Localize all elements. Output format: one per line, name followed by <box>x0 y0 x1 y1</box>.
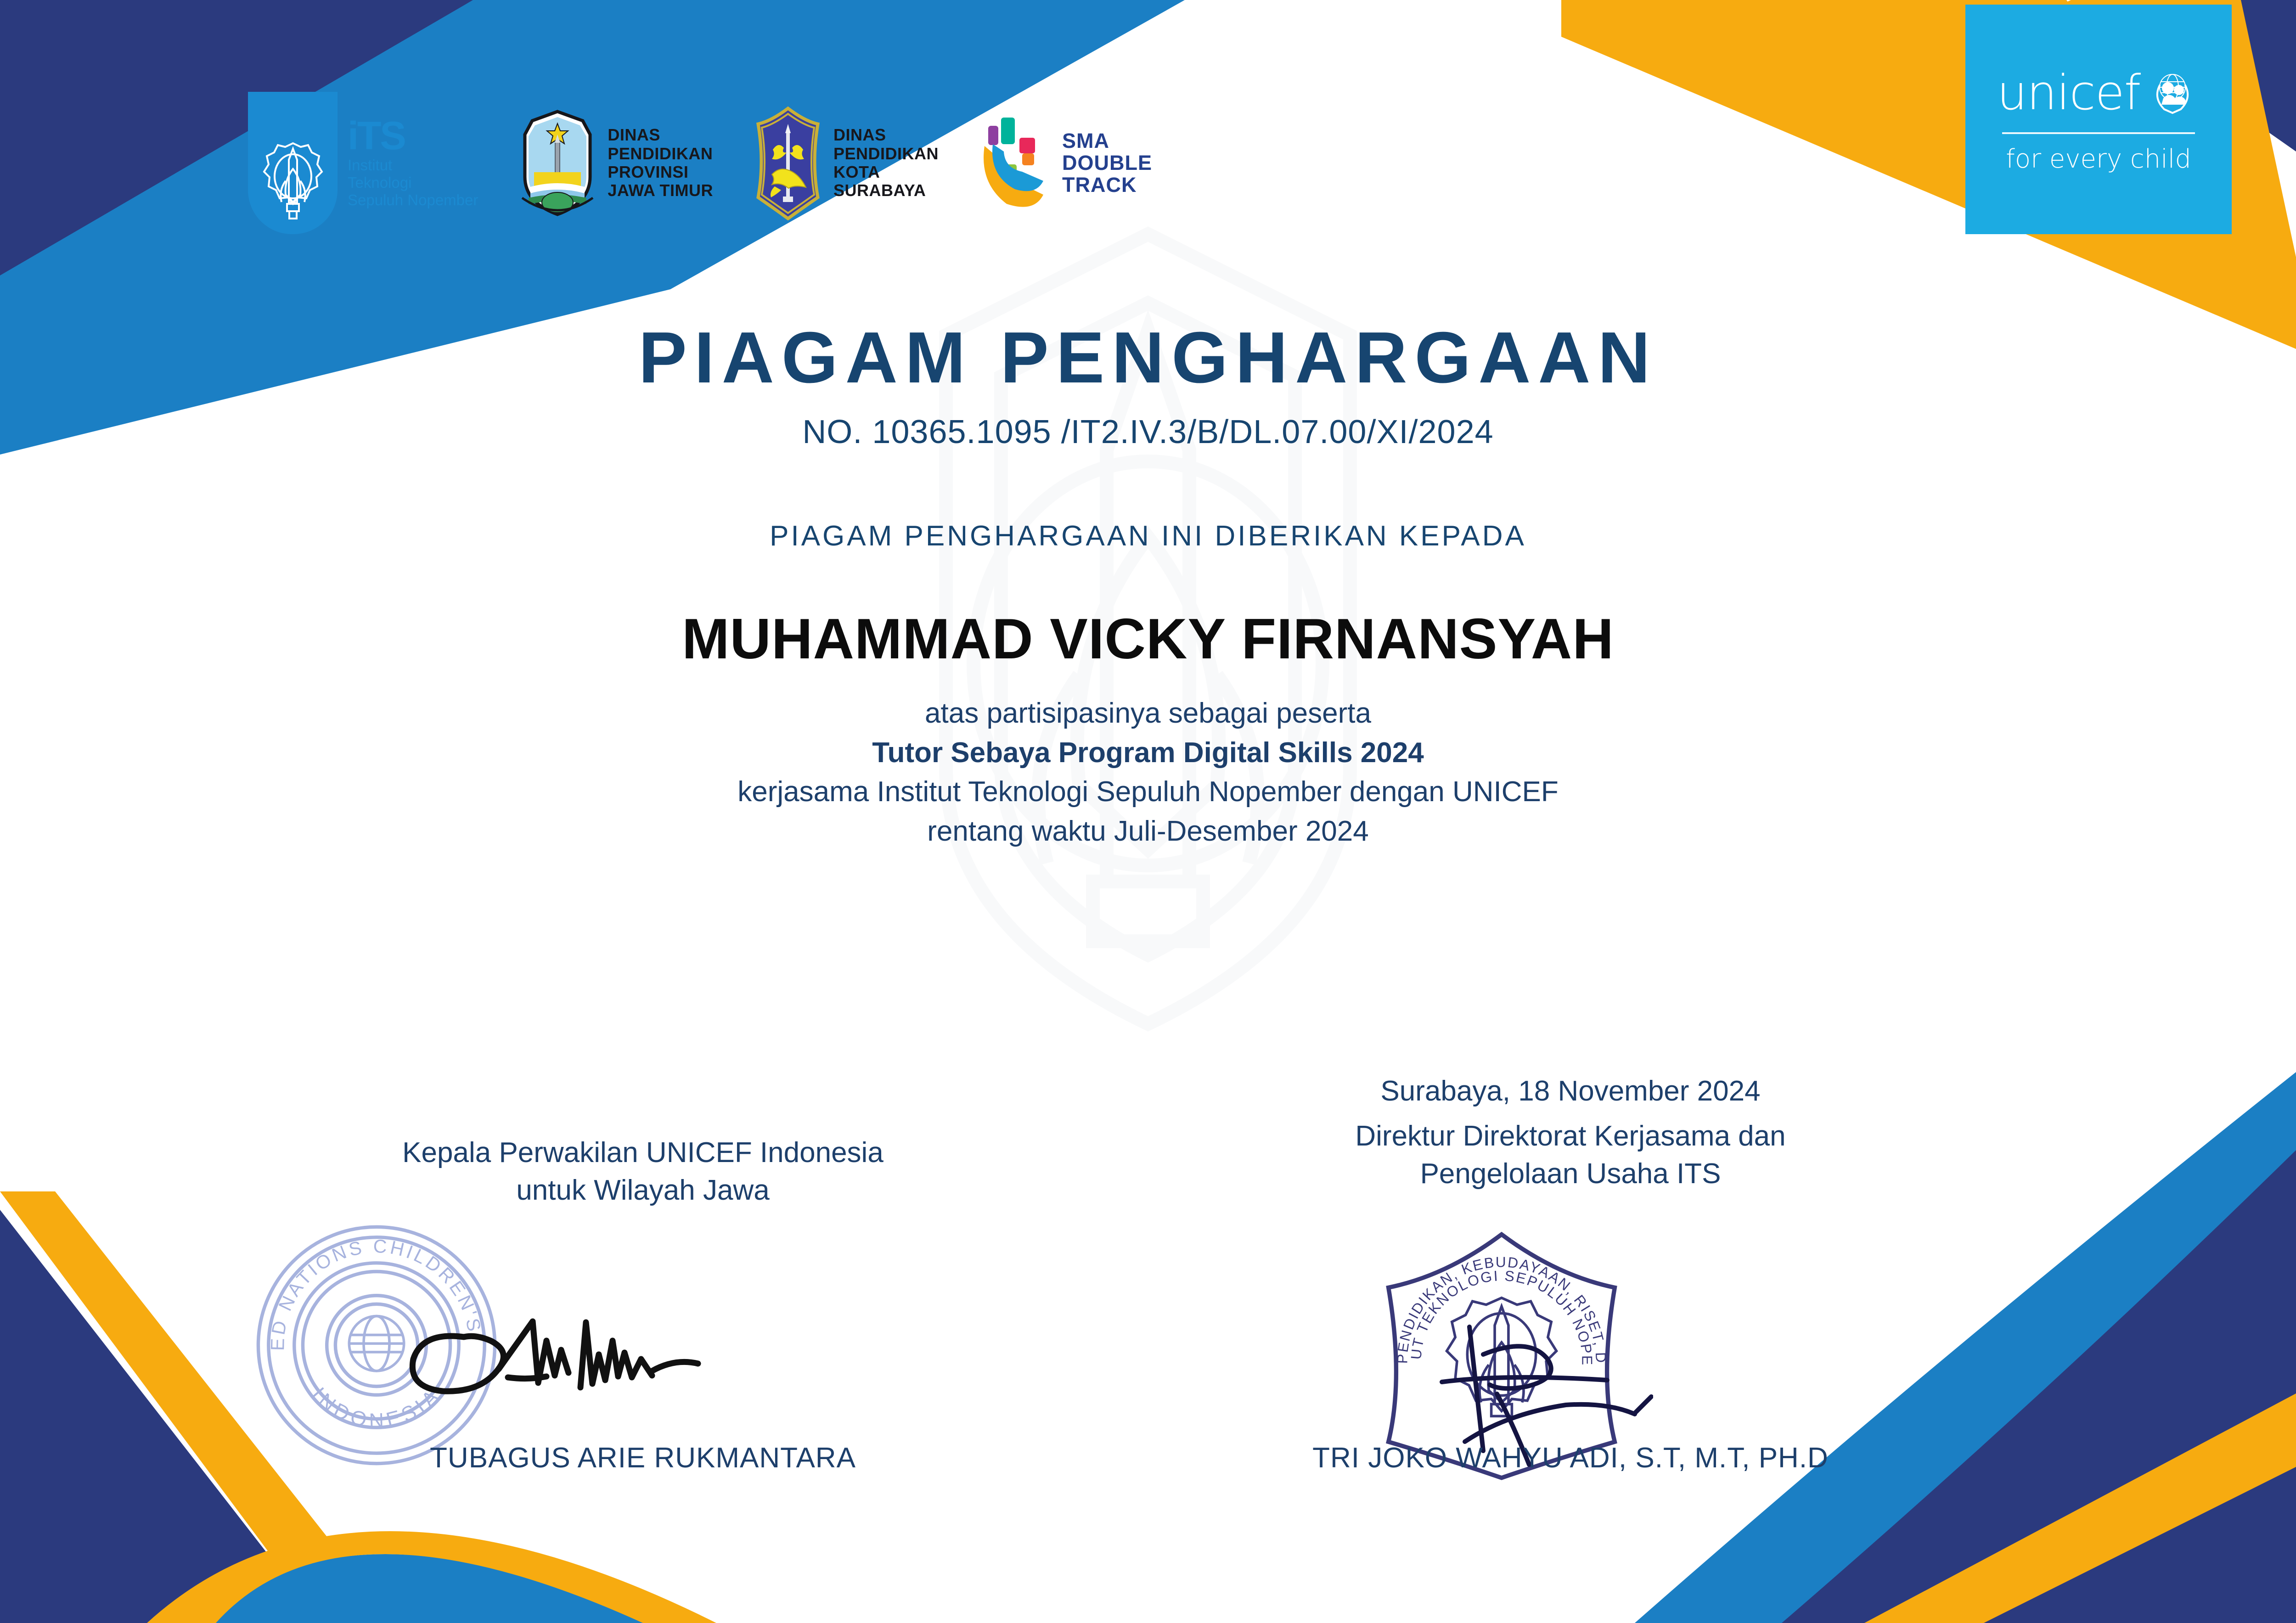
unicef-round-stamp-icon: UNITED NATIONS CHILDREN'S FUND INDONESIA <box>248 1217 505 1474</box>
svg-text:UNITED NATIONS CHILDREN'S FUND: UNITED NATIONS CHILDREN'S FUND <box>248 1217 486 1351</box>
unicef-divider <box>2002 132 2195 134</box>
signature-left-role-line2: untuk Wilayah Jawa <box>257 1173 1029 1208</box>
signature-right-role-line2: Pengelolaan Usaha ITS <box>1166 1156 1975 1192</box>
certificate-number: NO. 10365.1095 /IT2.IV.3/B/DL.07.00/XI/2… <box>0 413 2296 451</box>
unicef-tagline: for every child <box>2006 144 2191 174</box>
unicef-wordmark: unicef <box>1997 69 2141 117</box>
signature-right-name: TRI JOKO WAHYU ADI, S.T, M.T, PH.D <box>1166 1442 1975 1474</box>
body-line-4-period: rentang waktu Juli-Desember 2024 <box>0 814 2296 849</box>
svg-text:INDONESIA: INDONESIA <box>307 1382 446 1432</box>
svg-text:INSTITUT TEKNOLOGI SEPULUH NOP: INSTITUT TEKNOLOGI SEPULUH NOPEMBER <box>1373 1226 1596 1366</box>
signature-right-role-line1: Direktur Direktorat Kerjasama dan <box>1166 1118 1975 1154</box>
its-stamp-inner-text: INSTITUT TEKNOLOGI SEPULUH NOPEMBER <box>1373 1226 1596 1366</box>
corner-ribbon-bottom-left <box>0 1164 2296 1623</box>
certificate-body: PIAGAM PENGHARGAAN NO. 10365.1095 /IT2.I… <box>0 0 2296 849</box>
body-line-2-program: Tutor Sebaya Program Digital Skills 2024 <box>0 735 2296 771</box>
its-stamp-outer-text: KEMENTERIAN PENDIDIKAN, KEBUDAYAAN, RISE… <box>1373 1226 1609 1364</box>
signature-left-handwriting <box>395 1286 716 1414</box>
signature-left-name: TUBAGUS ARIE RUKMANTARA <box>257 1442 1029 1474</box>
signature-right-place-date: Surabaya, 18 November 2024 <box>1166 1074 1975 1108</box>
svg-text:KEMENTERIAN PENDIDIKAN, KEBUDA: KEMENTERIAN PENDIDIKAN, KEBUDAYAAN, RISE… <box>1373 1226 1609 1364</box>
body-line-1: atas partisipasinya sebagai peserta <box>0 696 2296 731</box>
logo-unicef: unicef for every child <box>1965 5 2232 234</box>
signature-block-right: Surabaya, 18 November 2024 Direktur Dire… <box>1166 1074 1975 1191</box>
unicef-stamp-outer-text: UNITED NATIONS CHILDREN'S FUND <box>248 1217 486 1351</box>
page-title: PIAGAM PENGHARGAAN <box>0 321 2296 394</box>
unicef-stamp-inner-text: INDONESIA <box>307 1382 446 1432</box>
certificate-page: iTS Institut Teknologi Sepuluh Nopember <box>0 0 2296 1623</box>
awarded-to-label: PIAGAM PENGHARGAAN INI DIBERIKAN KEPADA <box>0 520 2296 552</box>
recipient-name: MUHAMMAD VICKY FIRNANSYAH <box>0 607 2296 672</box>
signature-block-left: Kepala Perwakilan UNICEF Indonesia untuk… <box>257 1125 1029 1208</box>
signature-left-role-line1: Kepala Perwakilan UNICEF Indonesia <box>257 1135 1029 1171</box>
unicef-emblem-icon <box>2145 65 2200 120</box>
body-line-3: kerjasama Institut Teknologi Sepuluh Nop… <box>0 774 2296 810</box>
